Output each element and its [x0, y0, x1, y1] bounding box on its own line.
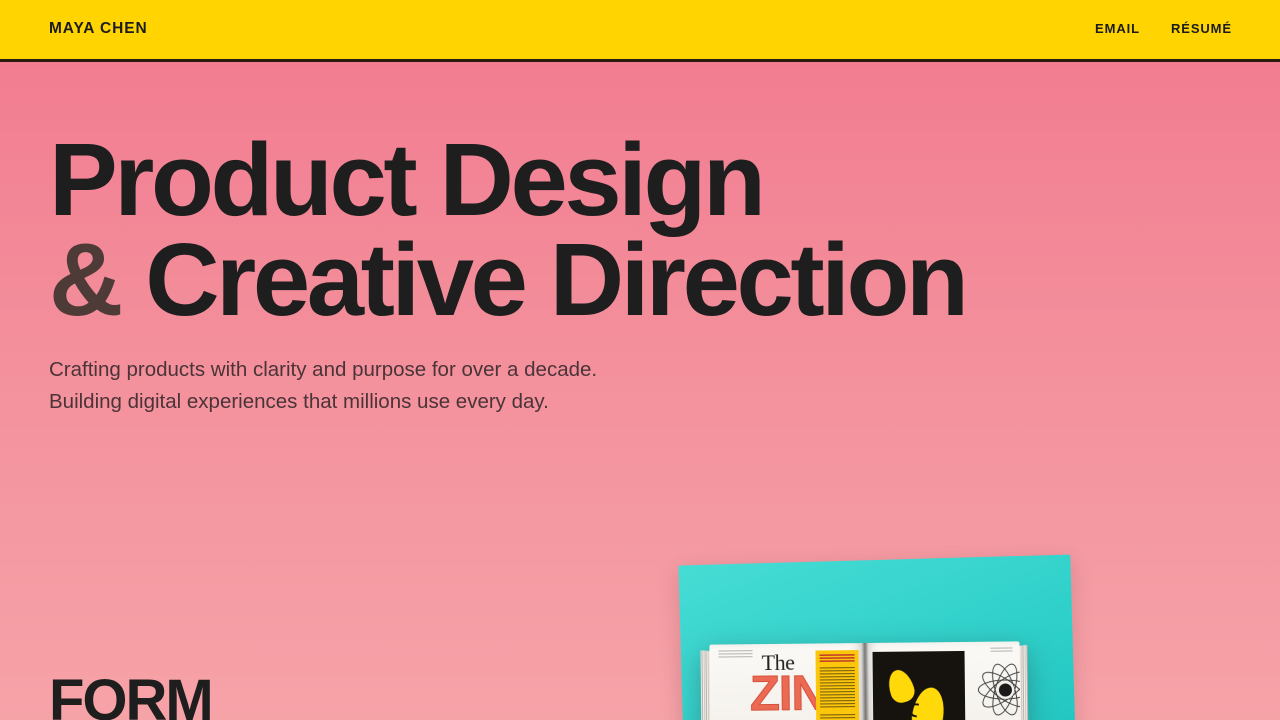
site-header: MAYA CHEN EMAIL RÉSUMÉ [0, 0, 1280, 62]
sidebar-headline-lines [820, 654, 855, 663]
primary-nav: EMAIL RÉSUMÉ [1095, 22, 1232, 35]
title-line-1: Product Design [49, 130, 966, 230]
sidebar-body-lines-2 [820, 714, 855, 720]
section-heading-form: FORM [49, 672, 212, 720]
subtitle-line-2: Building digital experiences that millio… [49, 386, 597, 418]
title-line-2-text: Creative Direction [120, 222, 966, 337]
zine-wordmark: ZIN [750, 669, 826, 719]
magazine-left-page: The ZIN [709, 643, 865, 720]
hero-artwork: The ZIN [648, 548, 1118, 720]
pear-shape-large [910, 685, 948, 720]
open-magazine: The ZIN [709, 641, 1020, 720]
magazine-spread: The ZIN [709, 641, 1020, 720]
ampersand-glyph: & [49, 222, 120, 337]
page-viewport: MAYA CHEN EMAIL RÉSUMÉ Product Design & … [0, 0, 1280, 720]
subtitle-line-1: Crafting products with clarity and purpo… [49, 354, 597, 386]
atom-diagram-icon [977, 661, 1021, 718]
page-folio-text [990, 647, 1012, 653]
nav-link-email[interactable]: EMAIL [1095, 22, 1140, 35]
page-meta-text [718, 650, 752, 657]
title-line-2: & Creative Direction [49, 230, 966, 330]
nav-link-resume[interactable]: RÉSUMÉ [1171, 22, 1232, 35]
pear-shape-small [884, 667, 917, 706]
magazine-right-page [864, 641, 1020, 720]
yellow-sidebar-column [816, 650, 860, 720]
black-art-panel [873, 651, 966, 720]
hero-subtitle: Crafting products with clarity and purpo… [49, 354, 597, 418]
magazine-gutter-shadow [861, 643, 869, 720]
brand-logo[interactable]: MAYA CHEN [49, 21, 148, 37]
sidebar-body-lines [820, 667, 855, 707]
page-title: Product Design & Creative Direction [49, 130, 966, 330]
